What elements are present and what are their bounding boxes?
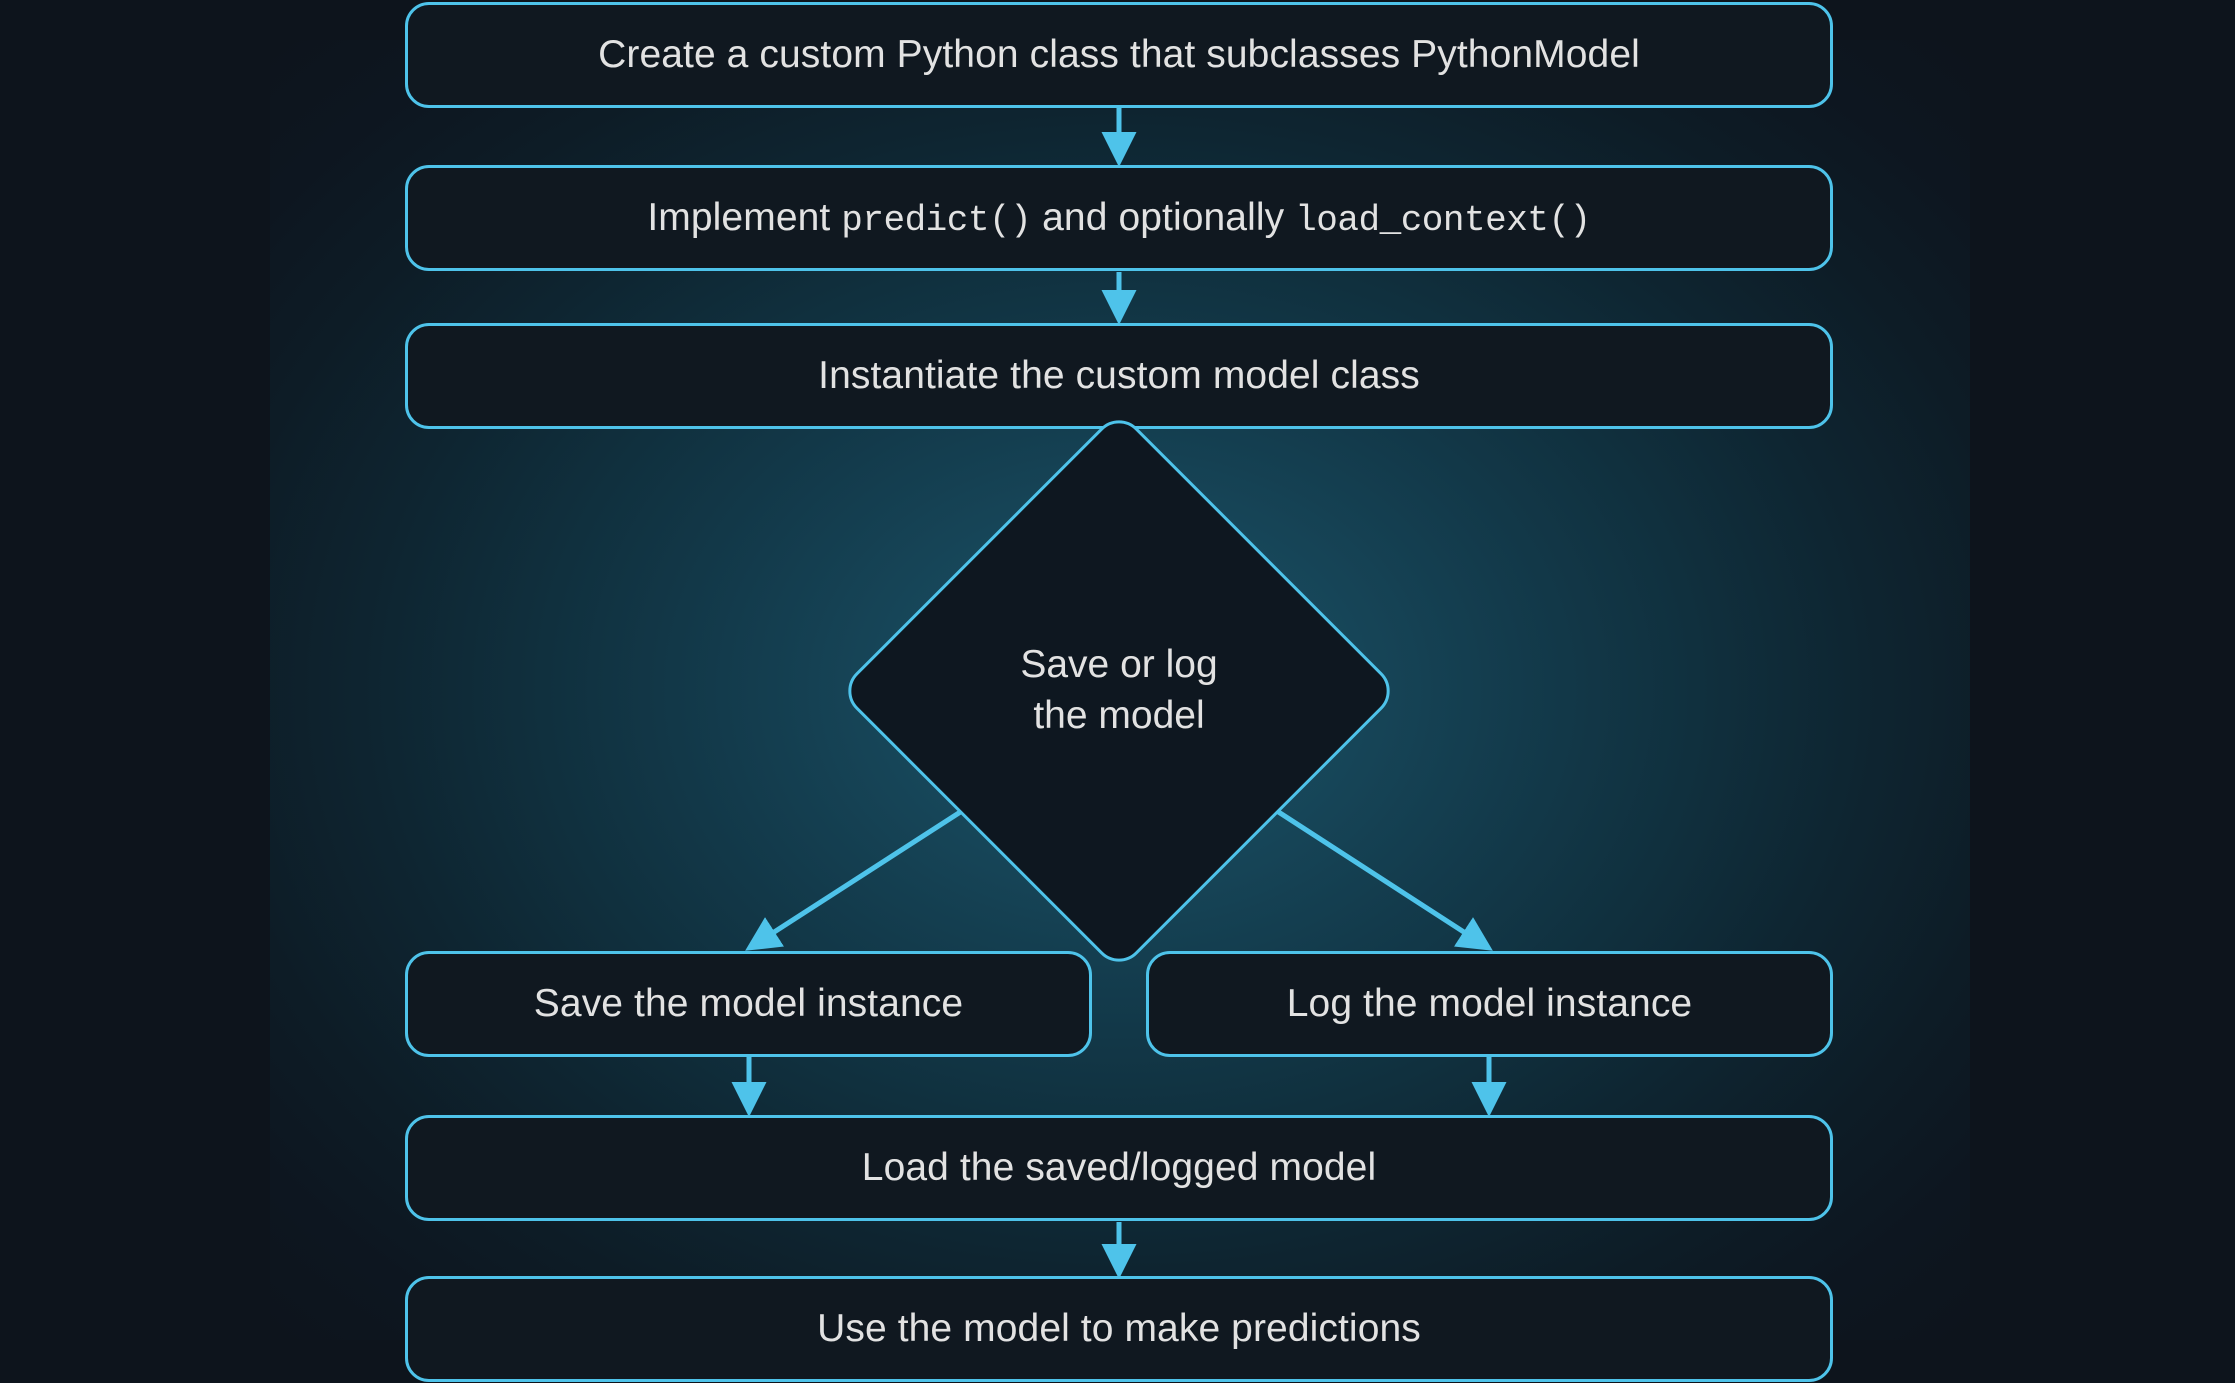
code-load-context: load_context()	[1295, 200, 1590, 241]
code-predict: predict()	[841, 200, 1031, 241]
node-use-model[interactable]: Use the model to make predictions	[405, 1276, 1833, 1382]
node-create-class[interactable]: Create a custom Python class that subcla…	[405, 2, 1833, 108]
node-load-model[interactable]: Load the saved/logged model	[405, 1115, 1833, 1221]
flowchart-canvas: Create a custom Python class that subcla…	[0, 0, 2235, 1383]
node-decision-save-or-log[interactable]: Save or log the model	[920, 492, 1318, 890]
node-decision-label: Save or log the model	[920, 492, 1318, 890]
node-instantiate-label: Instantiate the custom model class	[800, 352, 1438, 401]
implement-prefix: Implement	[647, 196, 841, 239]
node-save-instance-label: Save the model instance	[516, 980, 981, 1029]
node-instantiate[interactable]: Instantiate the custom model class	[405, 323, 1833, 429]
node-log-instance[interactable]: Log the model instance	[1146, 951, 1833, 1057]
node-load-model-label: Load the saved/logged model	[844, 1144, 1394, 1193]
node-implement-methods[interactable]: Implement predict() and optionally load_…	[405, 165, 1833, 271]
node-save-instance[interactable]: Save the model instance	[405, 951, 1092, 1057]
node-create-class-label: Create a custom Python class that subcla…	[580, 31, 1658, 80]
node-implement-methods-label: Implement predict() and optionally load_…	[629, 194, 1608, 243]
node-use-model-label: Use the model to make predictions	[799, 1305, 1439, 1354]
node-log-instance-label: Log the model instance	[1269, 980, 1710, 1029]
implement-middle: and optionally	[1031, 196, 1295, 239]
